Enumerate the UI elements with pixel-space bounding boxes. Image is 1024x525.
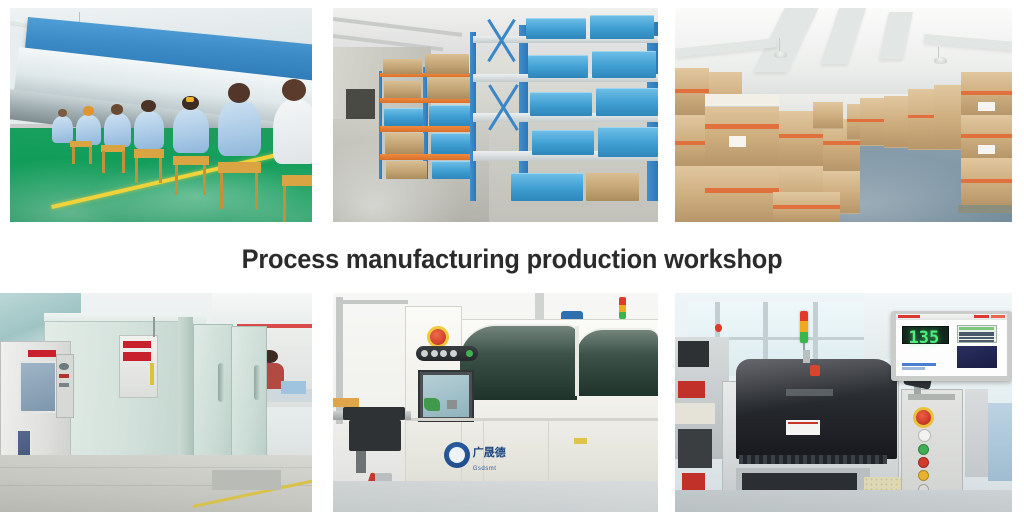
pendant-light — [774, 51, 787, 58]
stool-leg — [203, 165, 206, 195]
hood-glass-reflection — [460, 324, 577, 398]
worker — [76, 106, 100, 145]
machine-leg — [356, 451, 366, 473]
stool-leg — [220, 173, 223, 209]
stool-leg — [175, 165, 178, 195]
carton-stack — [813, 102, 843, 129]
hmi-touchscreen[interactable] — [418, 370, 474, 422]
hood-handle — [803, 350, 810, 363]
page-title: Process manufacturing production worksho… — [31, 244, 994, 275]
progress-bar — [902, 367, 924, 370]
control-button[interactable] — [421, 350, 428, 357]
feeder-bank — [678, 429, 712, 468]
operator-monitor[interactable]: 135 — [891, 311, 1012, 381]
feeder-slots — [742, 473, 857, 491]
andon-tower-light — [619, 297, 626, 319]
emergency-stop-button[interactable] — [427, 326, 449, 348]
carton-strap — [675, 141, 709, 145]
background-panel — [988, 403, 1012, 482]
warning-label-stripe — [788, 422, 818, 424]
workshop-floor — [333, 481, 658, 512]
warning-label — [123, 352, 151, 361]
side-cabinet — [965, 389, 989, 477]
stop-button[interactable] — [918, 457, 929, 468]
pallet — [958, 205, 1012, 214]
hair-clip — [186, 97, 194, 102]
door-handle — [254, 365, 260, 400]
door-handle — [218, 363, 224, 402]
progress-bar — [902, 363, 935, 366]
carton-stack — [675, 166, 709, 222]
pendant-light — [934, 57, 947, 64]
stool-leg — [122, 151, 125, 172]
title-bar-accent — [974, 315, 990, 319]
brand-logo-mark — [444, 442, 470, 468]
structural-rail — [336, 300, 408, 304]
photo-test-chambers — [0, 293, 312, 512]
floor-ramp — [212, 470, 281, 490]
shipping-label — [729, 136, 746, 147]
panel-seam — [548, 420, 550, 490]
stool-leg — [159, 158, 162, 184]
shipping-label — [978, 145, 995, 154]
brand-logo-text-en: Gsdsmt — [473, 466, 497, 472]
carton-lid — [705, 94, 779, 108]
carton-stack — [908, 89, 938, 150]
carton-stack — [934, 85, 964, 150]
carton-stack-front — [705, 102, 779, 167]
cabinet-viewing-window — [19, 361, 57, 413]
control-button[interactable] — [431, 350, 438, 357]
photo-warehouse-racks — [333, 8, 658, 222]
carton-strap — [961, 179, 1012, 183]
equipment — [281, 381, 306, 394]
board-preview — [957, 346, 997, 368]
stool — [173, 156, 209, 166]
carton-strap — [779, 134, 823, 138]
control-indicator — [59, 383, 68, 387]
control-knob — [59, 363, 68, 370]
conduit — [153, 317, 155, 337]
counter-display: 135 — [902, 326, 949, 344]
brand-logo-text-cn: 广晟德 — [473, 444, 506, 460]
cabinet-brand-label — [28, 350, 56, 357]
ce-mark — [447, 400, 457, 409]
stool — [218, 162, 260, 173]
carton-strap — [675, 89, 709, 93]
assembly-line-scene — [10, 8, 312, 222]
stool-leg — [135, 158, 138, 184]
hood-glass-reflection — [577, 328, 658, 394]
test-chamber-scene — [0, 293, 312, 512]
workshop-banner: 广晟德 Gsdsmt — [0, 0, 1024, 525]
worker — [218, 83, 260, 156]
carton-warehouse-scene — [675, 8, 1012, 222]
title-bar-accent — [898, 315, 920, 319]
worker — [104, 104, 131, 147]
power-button[interactable] — [918, 429, 931, 442]
stool — [282, 175, 312, 186]
machine-brand-plate — [786, 389, 833, 396]
wave-solder-scene: 广晟德 Gsdsmt — [333, 293, 658, 512]
worker — [134, 100, 164, 149]
carton-strap — [773, 205, 840, 209]
stool-leg — [102, 151, 105, 172]
shipping-label — [978, 102, 995, 111]
photo-smt-pick-and-place: 135 — [675, 293, 1012, 512]
tile-joint — [0, 467, 312, 468]
workshop-floor — [675, 490, 1012, 512]
photo-wave-solder-machine: 广晟德 Gsdsmt — [333, 293, 658, 512]
stool-leg — [283, 186, 286, 222]
stool — [134, 149, 164, 158]
red-component-reel — [678, 381, 705, 399]
smt-line-scene: 135 — [675, 293, 1012, 512]
stool-leg — [72, 147, 75, 164]
rack-far — [379, 64, 477, 180]
stool-leg — [255, 173, 258, 209]
feeder-cart — [675, 403, 715, 425]
carton-strap — [705, 188, 779, 193]
worker — [273, 79, 312, 165]
counter-value: 135 — [909, 330, 940, 347]
conveyor-mechanism — [343, 407, 405, 420]
monitor-screen: 135 — [896, 314, 1008, 376]
ceiling-pipe — [535, 293, 545, 319]
hood-latch — [810, 365, 820, 376]
carton-strap — [705, 124, 779, 129]
control-indicator — [59, 374, 68, 378]
photo-carton-storage — [675, 8, 1012, 222]
panel-seam — [405, 418, 659, 421]
rack-main — [470, 25, 659, 200]
carton-strap — [961, 91, 1012, 95]
carton-stack-front — [705, 166, 779, 222]
indicator-strip — [150, 363, 155, 385]
carton-strap — [823, 141, 860, 145]
panel-header — [908, 394, 955, 401]
wood-pallet-edge — [333, 398, 359, 407]
emergency-stop-button[interactable] — [913, 407, 934, 428]
warning-label — [123, 341, 151, 348]
andon-tower-light — [800, 311, 808, 344]
certification-mark — [424, 398, 440, 411]
start-button[interactable] — [918, 444, 929, 455]
photo-assembly-line — [10, 8, 312, 222]
control-button[interactable] — [450, 350, 457, 357]
stool-leg — [89, 147, 92, 164]
carton-strap — [908, 115, 938, 118]
adjacent-monitor — [678, 341, 708, 367]
conveyor-mechanism — [349, 420, 401, 451]
warehouse-rack-scene — [333, 8, 658, 222]
chamber-door-right — [231, 326, 267, 473]
carton-strap — [961, 134, 1012, 138]
title-bar-accent — [991, 315, 1004, 319]
worker — [173, 96, 209, 154]
status-table — [957, 325, 997, 343]
conveyor-track — [739, 455, 887, 464]
hood-divider — [575, 326, 579, 396]
caution-sticker — [574, 438, 587, 445]
reset-button[interactable] — [918, 470, 929, 481]
worker — [52, 109, 73, 143]
